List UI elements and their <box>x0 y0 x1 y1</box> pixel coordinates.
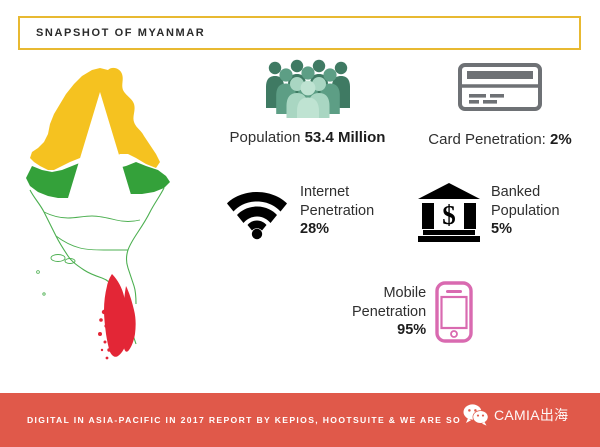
stat-banked-population: $ Banked Population 5% <box>416 180 560 242</box>
watermark-label: CAMIA出海 <box>494 405 568 425</box>
map-south-red-fill <box>98 274 136 359</box>
card-label-prefix: Card Penetration: <box>428 131 550 148</box>
people-group-icon <box>264 58 352 118</box>
stat-card-penetration: Card Penetration: 2% <box>405 56 595 149</box>
page-title: SNAPSHOT OF MYANMAR <box>20 27 205 39</box>
banked-label-line2: Population <box>491 203 560 219</box>
mobile-label-line1: Mobile <box>383 285 426 301</box>
wifi-icon <box>226 182 288 240</box>
internet-label-line1: Internet <box>300 184 349 200</box>
population-value: 53.4 Million <box>305 129 386 146</box>
myanmar-map <box>8 58 198 378</box>
map-north-flag-fill <box>8 68 198 208</box>
banked-label-line1: Banked <box>491 184 540 200</box>
mobile-value: 95% <box>397 322 426 338</box>
footer-source-text: DIGITAL IN ASIA-PACIFIC IN 2017 REPORT B… <box>0 415 461 425</box>
stat-mobile-penetration: Mobile Penetration 95% <box>352 280 474 344</box>
card-value: 2% <box>550 131 572 148</box>
population-label: Population 53.4 Million <box>210 128 405 147</box>
mobile-label: Mobile Penetration 95% <box>352 284 426 340</box>
card-icon-row <box>405 56 595 118</box>
internet-label-line2: Penetration <box>300 203 374 219</box>
mobile-label-line2: Penetration <box>352 304 426 320</box>
wechat-icon <box>463 404 489 426</box>
map-south-outline <box>30 188 164 344</box>
card-label: Card Penetration: 2% <box>405 130 595 149</box>
infographic-slide: SNAPSHOT OF MYANMAR <box>0 0 600 447</box>
title-box: SNAPSHOT OF MYANMAR <box>18 16 581 50</box>
smartphone-icon <box>434 280 474 344</box>
population-label-prefix: Population <box>230 129 305 146</box>
banked-value: 5% <box>491 221 512 237</box>
banked-label: Banked Population 5% <box>491 183 560 239</box>
credit-card-icon <box>456 59 544 115</box>
watermark: CAMIA出海 <box>463 404 568 426</box>
myanmar-map-svg <box>8 58 198 378</box>
population-icon-row <box>210 56 405 118</box>
internet-label: Internet Penetration 28% <box>300 183 374 239</box>
svg-text:$: $ <box>442 200 456 230</box>
internet-value: 28% <box>300 221 329 237</box>
stat-population: Population 53.4 Million <box>210 56 405 147</box>
bank-icon: $ <box>416 180 482 242</box>
stat-internet-penetration: Internet Penetration 28% <box>226 182 374 240</box>
